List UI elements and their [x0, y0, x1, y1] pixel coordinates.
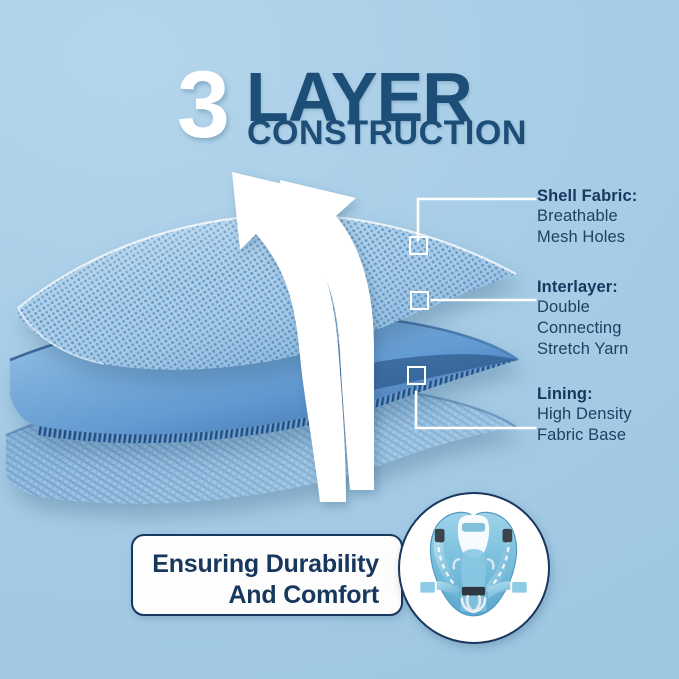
callout-shell-fabric-line1: Breathable: [537, 206, 637, 227]
tagline-text: Ensuring Durability And Comfort: [133, 549, 379, 611]
callout-shell-fabric-heading: Shell Fabric:: [537, 186, 637, 206]
tagline-line2: And Comfort: [133, 580, 379, 611]
callout-lining: Lining: High Density Fabric Base: [537, 384, 632, 446]
tagline-banner: Ensuring Durability And Comfort: [131, 534, 403, 616]
callout-lining-line1: High Density: [537, 404, 632, 425]
callout-interlayer: Interlayer: Double Connecting Stretch Ya…: [537, 277, 628, 360]
airflow-arrows: [196, 130, 396, 510]
page-title: 3 LAYER CONSTRUCTION: [0, 28, 679, 138]
callout-lining-line2: Fabric Base: [537, 425, 632, 446]
dog-harness-illustration: [400, 494, 547, 641]
product-photo-circle: [398, 492, 550, 644]
callout-interlayer-line1: Double: [537, 297, 628, 318]
callout-interlayer-line2: Connecting: [537, 318, 628, 339]
marker-lining: [407, 366, 426, 385]
marker-shell-fabric: [409, 236, 428, 255]
callout-interlayer-heading: Interlayer:: [537, 277, 628, 297]
infographic-canvas: 3 LAYER CONSTRUCTION: [0, 0, 679, 679]
callout-interlayer-line3: Stretch Yarn: [537, 339, 628, 360]
callout-shell-fabric-line2: Mesh Holes: [537, 227, 637, 248]
callout-shell-fabric: Shell Fabric: Breathable Mesh Holes: [537, 186, 637, 248]
tagline-line1: Ensuring Durability: [133, 549, 379, 580]
callout-lining-heading: Lining:: [537, 384, 632, 404]
marker-interlayer: [410, 291, 429, 310]
